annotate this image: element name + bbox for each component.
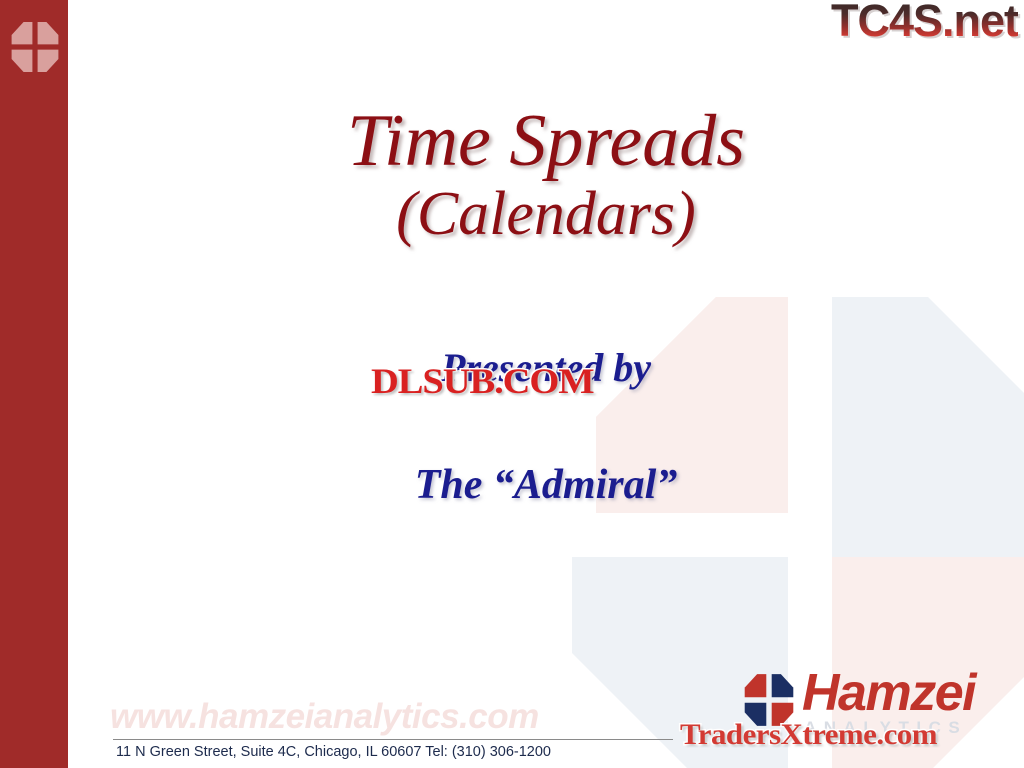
speaker-name: The “Admiral” bbox=[415, 462, 678, 508]
page-title: Time Spreads (Calendars) bbox=[68, 104, 1024, 247]
speaker-block: The “Admiral” bbox=[68, 464, 1024, 506]
sidebar bbox=[0, 0, 68, 768]
dlsub-watermark: DLSUB.COM bbox=[371, 360, 594, 402]
footer-divider bbox=[113, 739, 673, 740]
slide-canvas: TC4S.net TC4S.net Time Spreads (Calendar… bbox=[0, 0, 1024, 768]
tradersxtreme-watermark: TradersXtreme.com bbox=[680, 718, 937, 752]
footer-website-url: www.hamzeianalytics.com bbox=[110, 697, 539, 737]
pinwheel-icon bbox=[9, 21, 61, 73]
tc4s-watermark: TC4S.net bbox=[831, 0, 1018, 43]
footer-address: 11 N Green Street, Suite 4C, Chicago, IL… bbox=[116, 744, 551, 760]
hamzei-wordmark: Hamzei bbox=[802, 667, 975, 719]
title-line-secondary: (Calendars) bbox=[68, 183, 1024, 246]
title-line-primary: Time Spreads bbox=[68, 104, 1024, 179]
